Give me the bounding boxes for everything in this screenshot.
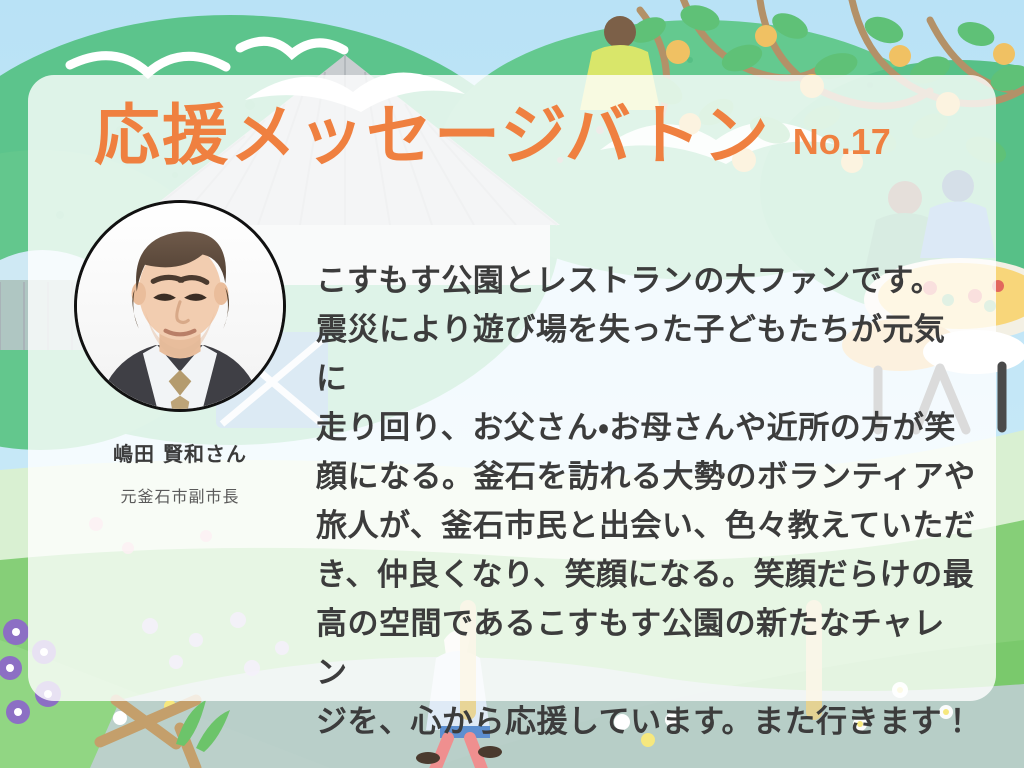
issue-number: No.17 bbox=[793, 124, 891, 160]
page-title: 応援メッセージバトン bbox=[94, 103, 771, 169]
message-line: 震災により遊び場を失った子どもたちが元気に bbox=[316, 306, 976, 404]
message-line: 旅人が、釜石市民と出会い、色々教えていただ bbox=[316, 502, 976, 551]
person-role: 元釜石市副市長 bbox=[50, 483, 310, 507]
message-card: 応援メッセージバトン No.17 bbox=[28, 75, 996, 701]
message-body: こすもす公園とレストランの大ファンです。震災により遊び場を失った子どもたちが元気… bbox=[316, 257, 976, 747]
message-line: き、仲良くなり、笑顔になる。笑顔だらけの最 bbox=[316, 551, 976, 600]
message-line: こすもす公園とレストランの大ファンです。 bbox=[316, 257, 976, 306]
person-block: 嶋田 賢和さん 元釜石市副市長 bbox=[50, 200, 310, 507]
message-line: 高の空間であるこすもす公園の新たなチャレン bbox=[316, 600, 976, 698]
person-name: 嶋田 賢和さん bbox=[50, 438, 310, 467]
poster-canvas: 応援メッセージバトン No.17 bbox=[0, 0, 1024, 768]
avatar bbox=[74, 200, 286, 412]
card-title-row: 応援メッセージバトン No.17 bbox=[94, 103, 891, 169]
portrait-photo bbox=[77, 203, 283, 409]
message-line: ジを、心から応援しています。また行きます！ bbox=[316, 698, 976, 747]
message-line: 走り回り、お父さん・お母さんや近所の方が笑 bbox=[316, 404, 976, 453]
message-line: 顔になる。釜石を訪れる大勢のボランティアや bbox=[316, 453, 976, 502]
